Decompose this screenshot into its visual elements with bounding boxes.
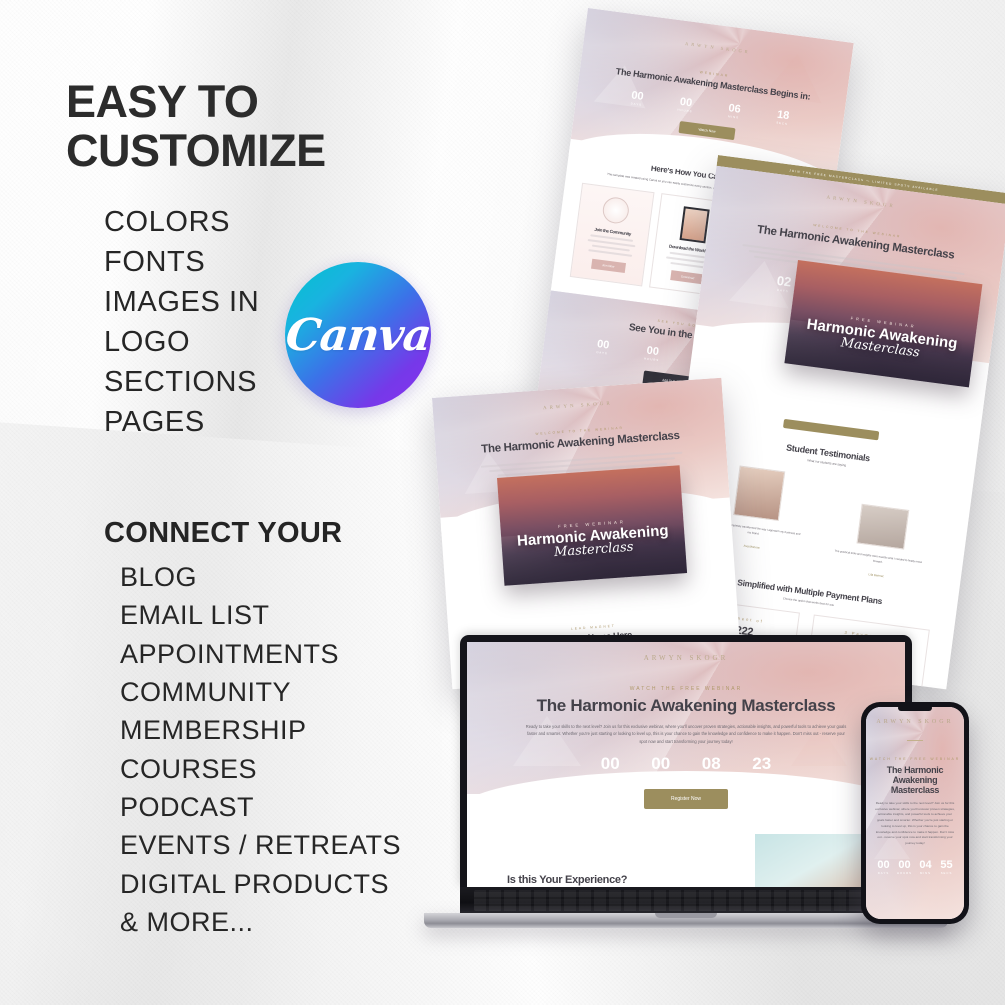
phone-notch	[898, 705, 932, 711]
list-item: & MORE...	[120, 903, 401, 941]
laptop-trackpad-notch	[655, 913, 717, 918]
countdown-value: 23	[737, 754, 788, 774]
countdown-unit: 06MINS	[709, 99, 760, 121]
list-item: FONTS	[104, 242, 259, 282]
testimonial-image	[856, 504, 909, 550]
left-copy-column: EASY TO CUSTOMIZE COLORS FONTS IMAGES IN…	[0, 0, 470, 1005]
countdown-label: SECS	[936, 871, 957, 875]
countdown-timer: 00DAYS 00HOURS 04MINS 55SECS	[866, 859, 964, 875]
countdown-label: SECS	[737, 774, 788, 779]
list-item: COURSES	[120, 750, 401, 788]
headline-line-1: EASY TO	[66, 78, 326, 127]
headline-line-2: CUSTOMIZE	[66, 127, 326, 176]
list-item: EVENTS / RETREATS	[120, 826, 401, 864]
list-item: BLOG	[120, 558, 401, 596]
countdown-value: 00	[636, 754, 687, 774]
canva-logo-icon: Canva	[285, 262, 431, 408]
hero-cta-button[interactable]: Watch Now	[679, 121, 736, 140]
section-title: Is this Your Experience?	[507, 874, 627, 886]
countdown-unit: 04MINS	[915, 859, 936, 875]
list-item: PAGES	[104, 402, 259, 442]
list-item: IMAGES IN	[104, 282, 259, 322]
countdown-unit: 00HOURS	[627, 342, 679, 364]
hero-body: Ready to take your skills to the next le…	[866, 795, 964, 847]
connect-section-title: CONNECT YOUR	[104, 517, 342, 550]
countdown-unit: 23SECS	[737, 754, 788, 779]
countdown-label: MINS	[915, 871, 936, 875]
customize-feature-list: COLORS FONTS IMAGES IN LOGO SECTIONS PAG…	[104, 202, 259, 442]
countdown-label: HOURS	[636, 774, 687, 779]
hero-body: Ready to take your skills to the next le…	[467, 716, 905, 745]
countdown-unit: 00DAYS	[612, 87, 663, 109]
prepare-card-button[interactable]: Join Now	[591, 258, 626, 272]
page-title: EASY TO CUSTOMIZE	[66, 78, 326, 175]
countdown-unit: 00DAYS	[873, 859, 894, 875]
hero-title: The Harmonic Awakening Masterclass	[467, 692, 905, 716]
countdown-value: 04	[915, 859, 936, 871]
countdown-unit: 00HOURS	[636, 754, 687, 779]
prepare-card-button[interactable]: Download	[670, 270, 705, 284]
countdown-value: 08	[686, 754, 737, 774]
countdown-label: HOURS	[894, 871, 915, 875]
list-item: COMMUNITY	[120, 673, 401, 711]
laptop-keyboard-deck	[460, 887, 912, 915]
canva-wordmark: Canva	[283, 310, 433, 361]
countdown-unit: 00HOURS	[894, 859, 915, 875]
workbook-thumbnail	[680, 206, 710, 243]
countdown-unit: 55SECS	[936, 859, 957, 875]
laptop-keys	[474, 890, 898, 911]
countdown-unit: 00DAYS	[577, 335, 629, 357]
list-item: LOGO	[104, 322, 259, 362]
list-item: APPOINTMENTS	[120, 635, 401, 673]
laptop-screen: ARWYN SKOGR WATCH THE FREE WEBINAR The H…	[467, 642, 905, 887]
connect-feature-list: BLOG EMAIL LIST APPOINTMENTS COMMUNITY M…	[120, 558, 401, 941]
countdown-label: MINS	[686, 774, 737, 779]
countdown-value: 00	[894, 859, 915, 871]
register-now-button[interactable]: Register Now	[644, 789, 728, 809]
phone-mockup: ARWYN SKOGR WATCH THE FREE WEBINAR The H…	[861, 702, 969, 924]
countdown-label: DAYS	[873, 871, 894, 875]
countdown-unit: 08MINS	[686, 754, 737, 779]
hero-title-line-1: The Harmonic Awakening	[866, 761, 964, 785]
countdown-unit: 00HOURS	[660, 93, 711, 115]
list-item: SECTIONS	[104, 362, 259, 402]
countdown-value: 00	[873, 859, 894, 871]
webinar-video-card-left[interactable]: FREE WEBINAR Harmonic Awakening Mastercl…	[497, 465, 687, 586]
decorative-mandala-icon	[601, 195, 630, 224]
list-item: DIGITAL PRODUCTS	[120, 865, 401, 903]
countdown-label: DAYS	[585, 774, 636, 779]
countdown-unit: 00DAYS	[585, 754, 636, 779]
list-item: MEMBERSHIP	[120, 711, 401, 749]
countdown-unit: 18SECS	[758, 106, 809, 128]
prepare-card[interactable]: Join the Community Join Now	[570, 182, 655, 286]
list-item: PODCAST	[120, 788, 401, 826]
phone-screen: ARWYN SKOGR WATCH THE FREE WEBINAR The H…	[866, 707, 964, 919]
laptop-screen-bezel: ARWYN SKOGR WATCH THE FREE WEBINAR The H…	[460, 635, 912, 887]
hero-title-line-2: Masterclass	[866, 785, 964, 795]
countdown-value: 00	[585, 754, 636, 774]
countdown-value: 55	[936, 859, 957, 871]
countdown-timer: 00DAYS 00HOURS 08MINS 23SECS	[467, 754, 905, 779]
list-item: COLORS	[104, 202, 259, 242]
divider	[907, 740, 923, 741]
list-item: EMAIL LIST	[120, 596, 401, 634]
avatar	[733, 465, 785, 521]
brand-logo: ARWYN SKOGR	[467, 642, 905, 662]
